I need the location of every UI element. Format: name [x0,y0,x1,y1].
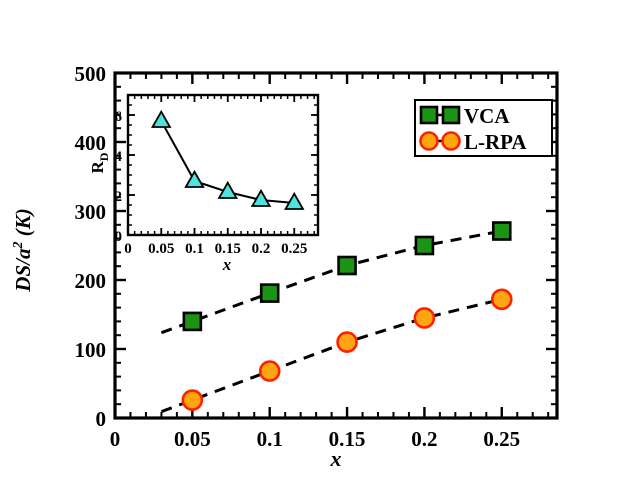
inset-x-tick-label: 0.2 [252,241,271,257]
marker-square [184,313,201,330]
marker-square [421,107,437,123]
marker-square [261,285,278,302]
figure-container: 00.050.10.150.20.25 0100200300400500 x D… [0,0,627,485]
marker-square [443,107,459,123]
marker-square [493,223,510,240]
marker-circle [492,290,511,309]
inset-y-tick-label: 2 [115,189,123,205]
marker-circle [421,133,438,150]
marker-square [339,257,356,274]
main-y-axis-title: DS/a2 (K) [11,208,35,292]
legend: VCAL-RPA [415,100,552,156]
marker-circle [183,391,202,410]
y-tick-label: 0 [96,407,107,431]
inset-plot-frame [128,95,318,235]
x-tick-label: 0.1 [257,427,283,451]
y-tick-label: 200 [75,269,107,293]
inset-y-tick-label: 4 [115,149,123,165]
inset-x-tick-label: 0.05 [148,241,174,257]
y-tick-label: 500 [75,62,107,86]
inset-x-tick-label: 0.25 [281,241,307,257]
marker-circle [338,333,357,352]
x-tick-label: 0.2 [411,427,437,451]
chart-canvas: 00.050.10.150.20.25 0100200300400500 x D… [0,0,627,485]
marker-square [416,237,433,254]
marker-circle [443,133,460,150]
inset-axes [128,95,318,235]
svg-text:DS/a2 (K): DS/a2 (K) [11,208,35,292]
main-x-axis-title: x [330,446,342,471]
x-tick-label: 0.05 [174,427,211,451]
legend-label-l-rpa: L-RPA [464,130,527,154]
x-tick-label: 0.25 [483,427,520,451]
y-tick-label: 400 [75,131,107,155]
marker-circle [415,308,434,327]
inset-x-tick-label: 0 [124,241,132,257]
marker-circle [260,362,279,381]
inset-x-axis-title: x [222,255,232,274]
inset-x-tick-label: 0.1 [185,241,204,257]
inset-y-tick-label: 6 [115,109,123,125]
legend-label-vca: VCA [464,104,510,128]
inset-y-tick-label: 0 [115,229,123,245]
x-tick-label: 0 [110,427,121,451]
y-tick-label: 300 [75,200,107,224]
y-tick-label: 100 [75,338,107,362]
